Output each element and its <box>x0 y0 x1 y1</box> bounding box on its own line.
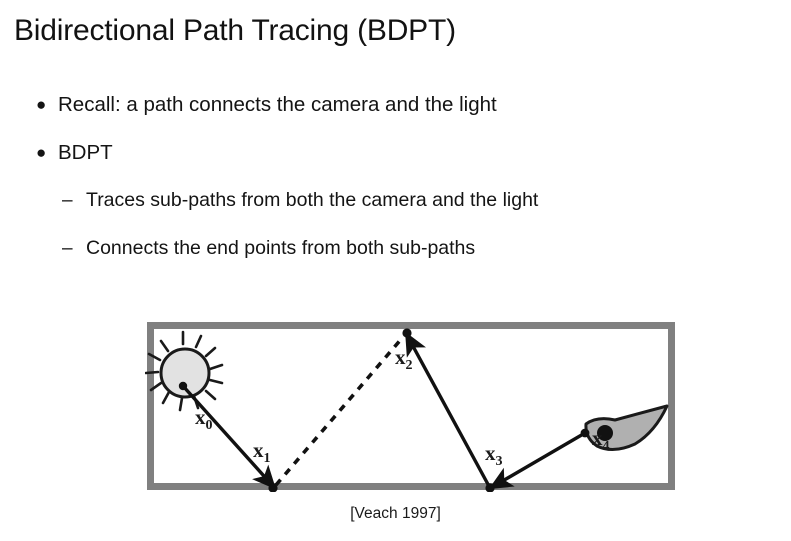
bullet-text: Recall: a path connects the camera and t… <box>58 93 497 116</box>
room-interior <box>154 329 668 483</box>
bullet-list: ● Recall: a path connects the camera and… <box>14 92 774 284</box>
dash-marker-icon: – <box>62 236 73 261</box>
dash-marker-icon: – <box>62 188 73 213</box>
bdpt-path-diagram: x0 x1 x2 x3 x4 <box>145 320 677 492</box>
vertex-x4 <box>581 429 590 438</box>
bullet-marker-icon: ● <box>36 140 46 166</box>
vertex-x2 <box>402 328 411 337</box>
bullet-item-connects-endpoints: – Connects the end points from both sub-… <box>14 236 774 261</box>
bullet-item-recall: ● Recall: a path connects the camera and… <box>14 92 774 118</box>
bullet-text: Traces sub-paths from both the camera an… <box>86 189 538 211</box>
figure-caption: [Veach 1997] <box>0 505 791 523</box>
page-title: Bidirectional Path Tracing (BDPT) <box>14 14 456 48</box>
bullet-item-bdpt: ● BDPT <box>14 140 774 166</box>
bullet-marker-icon: ● <box>36 92 46 118</box>
vertex-x0 <box>179 382 187 390</box>
room-box <box>147 322 675 490</box>
bullet-text: BDPT <box>58 141 113 164</box>
bullet-text: Connects the end points from both sub-pa… <box>86 237 475 259</box>
bullet-item-traces-subpaths: – Traces sub-paths from both the camera … <box>14 188 774 213</box>
slide: Bidirectional Path Tracing (BDPT) ● Reca… <box>0 0 791 541</box>
